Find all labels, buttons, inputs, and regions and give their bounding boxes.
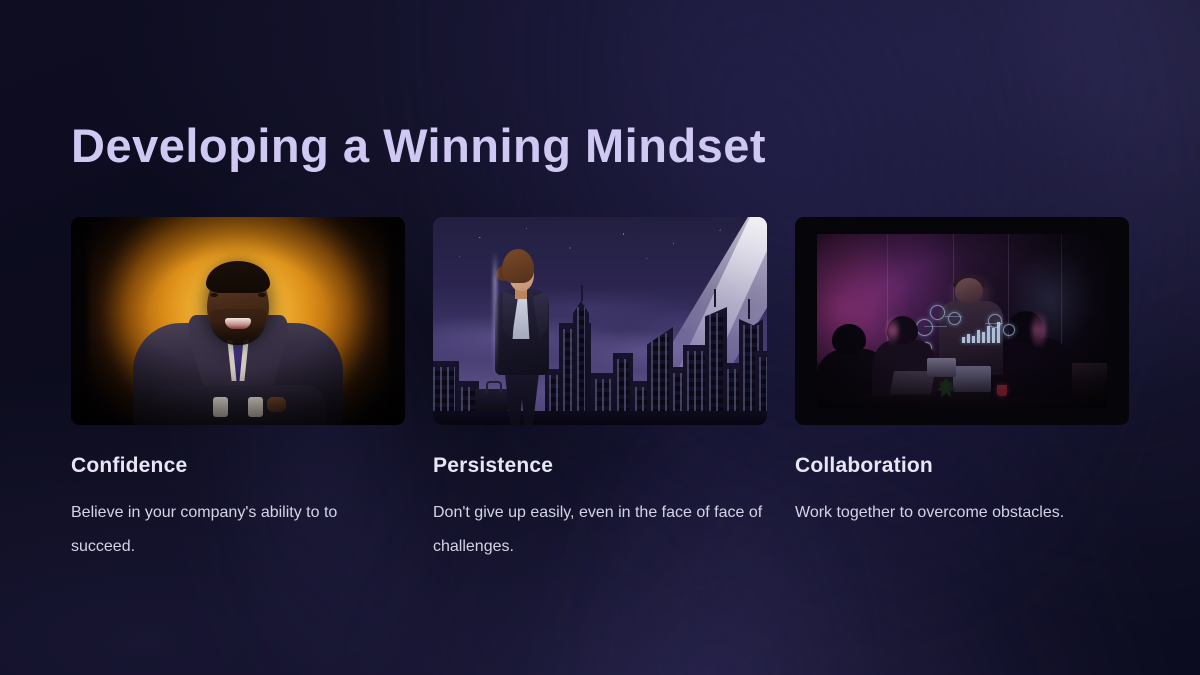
presentation-slide: Developing a Winning Mindset — [0, 0, 1200, 675]
card-image-collaboration — [795, 217, 1129, 425]
card-confidence: Confidence Believe in your company's abi… — [71, 217, 405, 564]
team-meeting-illustration-icon — [795, 217, 1129, 425]
card-description: Don't give up easily, even in the face o… — [433, 496, 763, 564]
businessman-illustration-icon — [71, 217, 405, 425]
card-heading: Collaboration — [795, 454, 1129, 478]
card-heading: Confidence — [71, 454, 405, 478]
card-persistence: Persistence Don't give up easily, even i… — [433, 217, 767, 564]
businesswoman-skyline-illustration-icon — [433, 217, 767, 425]
card-heading: Persistence — [433, 454, 767, 478]
card-image-persistence — [433, 217, 767, 425]
card-row: Confidence Believe in your company's abi… — [71, 217, 1129, 564]
card-description: Work together to overcome obstacles. — [795, 496, 1125, 530]
slide-title: Developing a Winning Mindset — [71, 118, 766, 173]
card-description: Believe in your company's ability to to … — [71, 496, 401, 564]
card-collaboration: Collaboration Work together to overcome … — [795, 217, 1129, 564]
card-image-confidence — [71, 217, 405, 425]
